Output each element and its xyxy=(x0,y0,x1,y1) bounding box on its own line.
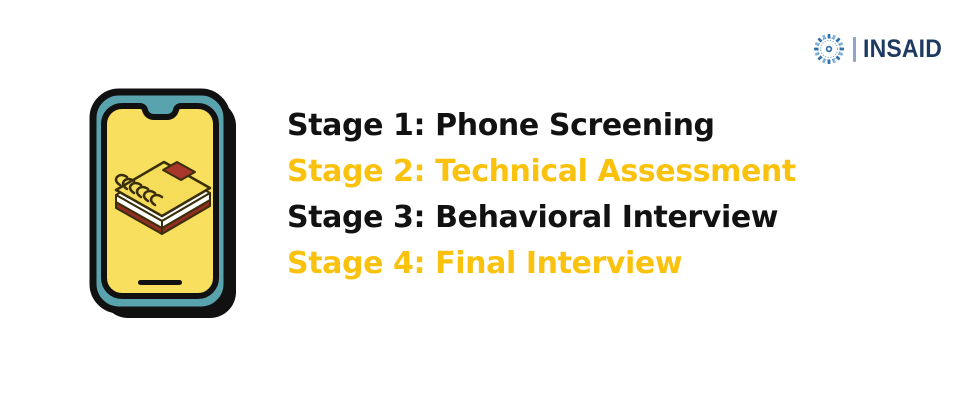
stage-item-1: Stage 1: Phone Screening xyxy=(287,103,887,149)
slide-canvas: INSAID xyxy=(0,0,964,408)
stage-item-2: Stage 2: Technical Assessment xyxy=(287,149,887,195)
smartphone-illustration xyxy=(78,78,253,323)
smartphone-icon xyxy=(78,78,253,323)
brand-name: INSAID xyxy=(863,37,942,62)
home-indicator xyxy=(138,280,182,285)
brand-logo: INSAID xyxy=(812,30,924,68)
brand-divider xyxy=(853,37,856,62)
gear-mandala-icon xyxy=(812,32,846,66)
stage-list: Stage 1: Phone Screening Stage 2: Techni… xyxy=(287,103,887,287)
stage-item-4: Stage 4: Final Interview xyxy=(287,241,887,287)
stage-item-3: Stage 3: Behavioral Interview xyxy=(287,195,887,241)
